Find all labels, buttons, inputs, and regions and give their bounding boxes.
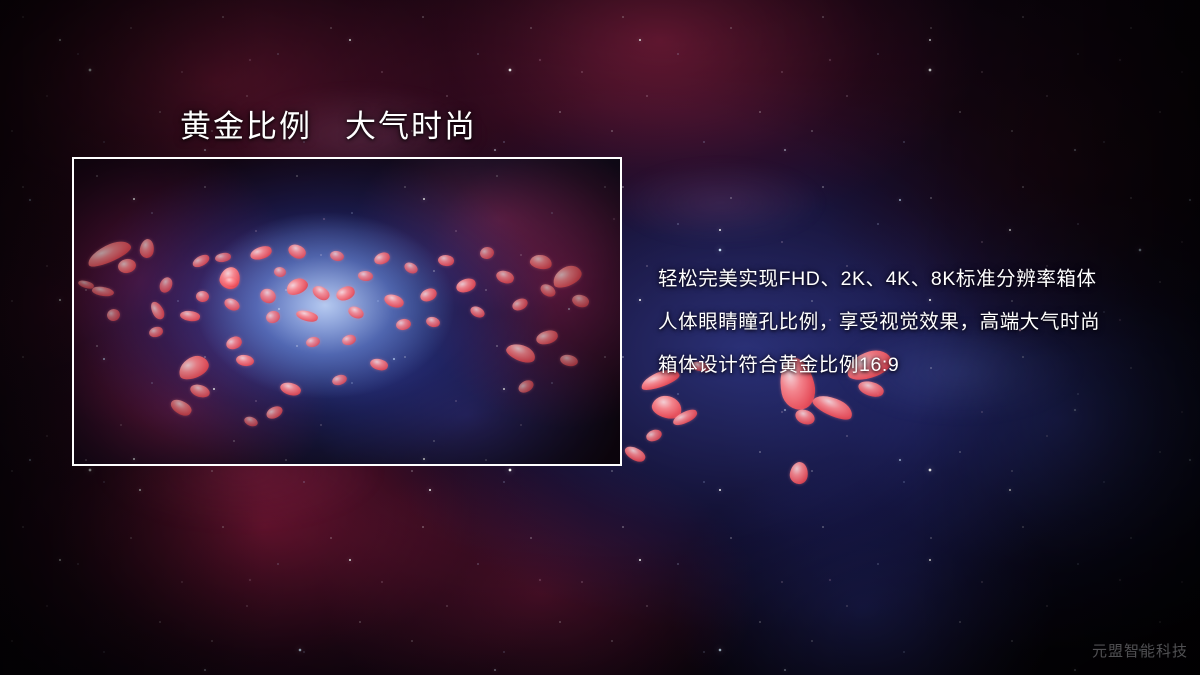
watermark-logo-text: 元盟智能科技 — [1092, 640, 1188, 661]
flower-petal-icon — [645, 428, 664, 444]
body-text-block: 轻松完美实现FHD、2K、4K、8K标准分辨率箱体 人体眼睛瞳孔比例，享受视觉效… — [658, 258, 1178, 387]
framed-photo-panel — [72, 157, 622, 466]
body-line-1: 轻松完美实现FHD、2K、4K、8K标准分辨率箱体 — [658, 258, 1178, 301]
flower-petal-icon — [810, 390, 856, 425]
flower-petal-icon — [789, 461, 810, 485]
panel-vignette — [74, 159, 620, 464]
presentation-slide: 黄金比例 大气时尚 轻松完美实现FHD、2K、4K、8K标准分辨率箱体 人体眼睛… — [0, 0, 1200, 675]
slide-title: 黄金比例 大气时尚 — [180, 101, 477, 146]
body-line-3: 箱体设计符合黄金比例16:9 — [658, 344, 1178, 387]
flower-petal-icon — [793, 407, 817, 427]
flower-petal-icon — [622, 443, 647, 464]
body-line-2: 人体眼睛瞳孔比例，享受视觉效果，高端大气时尚 — [658, 301, 1178, 344]
